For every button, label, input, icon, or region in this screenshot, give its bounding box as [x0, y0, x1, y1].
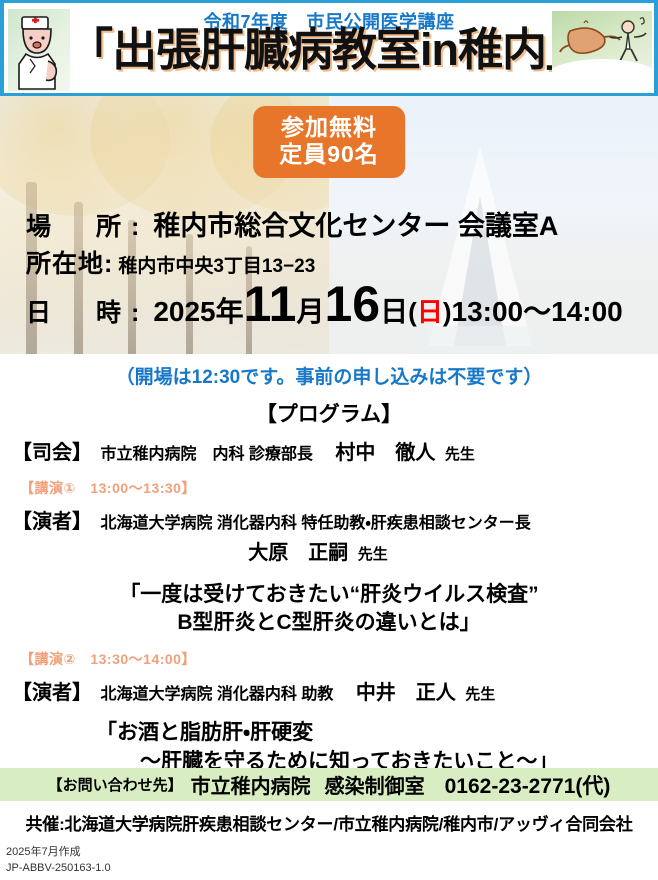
lecture-1-title-line-2: B型肝炎とC型肝炎の違いとは」	[0, 609, 658, 637]
lecture-1-speaker-name: 大原 正嗣	[248, 542, 348, 564]
datetime-day-number: 16	[325, 282, 381, 327]
contact-band: 【お問い合わせ先】 市立稚内病院 感染制御室 0162-23-2771(代)	[0, 768, 658, 801]
moderator-row: 【司会】 市立稚内病院 内科 診療部長 村中 徹人 先生	[0, 436, 658, 465]
lecture-1-speaker-tag: 【演者】	[12, 511, 92, 533]
badge-line-1: 参加無料	[279, 114, 379, 141]
program-heading: 【プログラム】	[0, 398, 658, 428]
datetime-time-range: 13:00〜14:00	[452, 290, 623, 330]
fineprint: 2025年7月作成 JP-ABBV-250163-1.0	[6, 845, 111, 877]
venue-row: 場 所: 稚内市総合文化センター 会議室A	[26, 204, 646, 243]
lecture-1-label: 【講演① 13:00〜13:30】	[0, 478, 658, 498]
poster-header: 令和7年度 市民公開医学講座 「出張肝臓病教室in稚内」	[0, 0, 658, 96]
lecture-2-title-line-1: 「お酒と脂肪肝・肝硬変	[96, 721, 313, 744]
lecture-2-speaker-affiliation: 北海道大学病院 消化器内科 助教	[100, 686, 333, 703]
opening-note: （開場は12:30です。事前の申し込みは不要です）	[0, 362, 658, 389]
contact-tag: 【お問い合わせ先】	[48, 774, 183, 795]
venue-value: 稚内市総合文化センター 会議室A	[153, 204, 558, 243]
address-row: 所在地: 稚内市中央3丁目13−23	[26, 244, 646, 280]
venue-label: 場 所:	[26, 207, 149, 243]
lecture-1-title: 「一度は受けておきたい“肝炎ウイルス検査” B型肝炎とC型肝炎の違いとは」	[0, 581, 658, 636]
moderator-affiliation: 市立稚内病院 内科 診療部長	[100, 446, 312, 463]
moderator-tag: 【司会】	[12, 442, 92, 464]
free-admission-badge: 参加無料 定員90名	[253, 106, 405, 178]
datetime-day-unit: 日	[380, 290, 408, 330]
contact-phone-number[interactable]: 0162-23-2771(代)	[445, 770, 611, 800]
lecture-2-label: 【講演② 13:30〜14:00】	[0, 649, 658, 669]
datetime-year: 2025年	[153, 290, 243, 330]
datetime-row: 日 時: 2025年 11 月 16 日 ( 日 ) 13:00〜14:00	[26, 282, 623, 330]
datetime-paren-close: )	[443, 297, 452, 328]
liver-character-dancing-icon	[552, 11, 652, 77]
address-value: 稚内市中央3丁目13−23	[118, 251, 315, 278]
lecture-1-speaker-honorific: 先生	[358, 546, 388, 563]
lecture-2-speaker-row: 【演者】 北海道大学病院 消化器内科 助教 中井 正人 先生	[0, 676, 658, 705]
venue-hero-section: 参加無料 定員90名 場 所: 稚内市総合文化センター 会議室A 所在地: 稚内…	[0, 96, 658, 354]
lecture-1-speaker-row: 【演者】 北海道大学病院 消化器内科 特任助教・肝疾患相談センター長	[0, 505, 658, 534]
cohost-line: 共催:北海道大学病院肝疾患相談センター/市立稚内病院/稚内市/アッヴィ合同会社	[0, 810, 658, 835]
datetime-label: 日 時:	[26, 293, 149, 329]
datetime-month-number: 11	[244, 282, 297, 327]
datetime-paren-open: (	[408, 297, 417, 328]
badge-line-2: 定員90名	[279, 141, 379, 168]
lecture-1-speaker-affiliation: 北海道大学病院 消化器内科 特任助教・肝疾患相談センター長	[100, 515, 530, 532]
lecture-2-speaker-tag: 【演者】	[12, 682, 92, 704]
contact-organization: 市立稚内病院	[191, 770, 311, 799]
venue-info: 場 所: 稚内市総合文化センター 会議室A 所在地: 稚内市中央3丁目13−23	[26, 204, 646, 280]
lecture-2-speaker-name: 中井 正人	[356, 682, 456, 704]
moderator-honorific: 先生	[445, 446, 475, 463]
datetime-weekday: 日	[417, 292, 443, 329]
address-label: 所在地:	[26, 244, 113, 280]
moderator-name: 村中 徹人	[335, 442, 435, 464]
lecture-1-speaker-name-line: 大原 正嗣 先生	[0, 536, 658, 565]
lecture-1-title-line-1: 「一度は受けておきたい“肝炎ウイルス検査”	[119, 583, 538, 606]
contact-department: 感染制御室	[325, 770, 425, 799]
datetime-month-unit: 月	[296, 290, 324, 330]
lecture-2-speaker-honorific: 先生	[465, 686, 495, 703]
document-code: JP-ABBV-250163-1.0	[6, 861, 111, 877]
creation-date: 2025年7月作成	[6, 845, 111, 861]
